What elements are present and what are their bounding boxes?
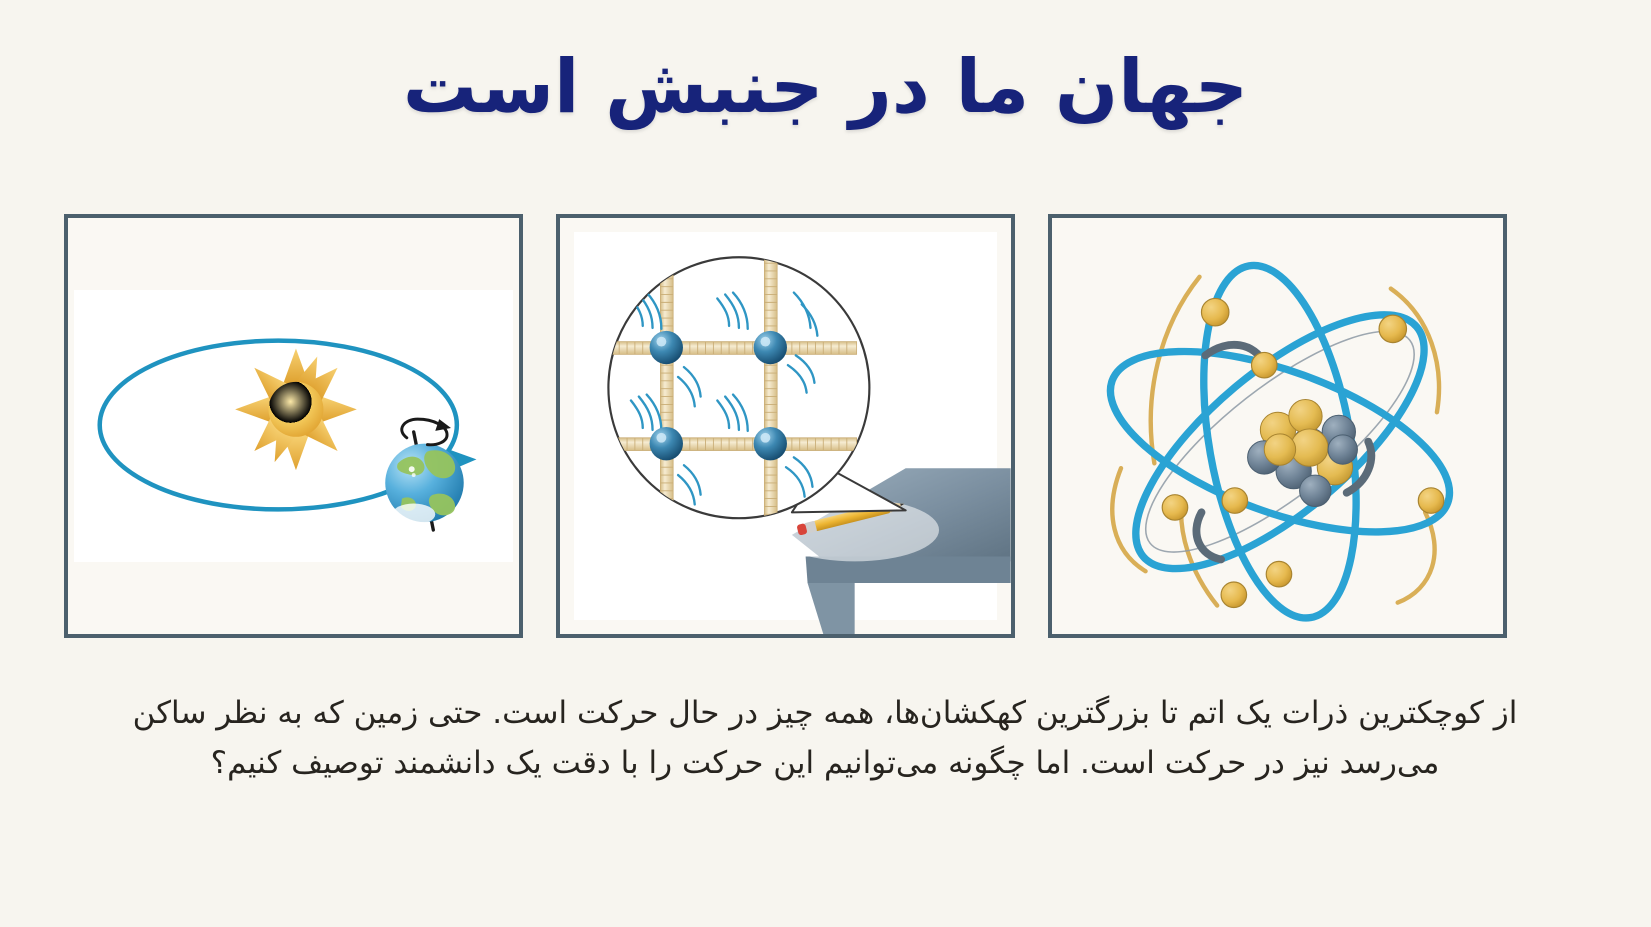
panel-earth-orbit: [64, 214, 523, 638]
atom-nucleus: [1248, 400, 1358, 507]
caption-block: از کوچکترین ذرات یک اتم تا بزرگترین کهکش…: [90, 688, 1560, 788]
crystal-lattice-illustration: [560, 218, 1011, 634]
panel-atom: [1048, 214, 1507, 638]
sun-icon: [213, 326, 380, 493]
earth-rotation-arrowhead-icon: [435, 419, 451, 431]
page-title: جهان ما در جنبش است: [0, 46, 1651, 129]
panel-lattice: [556, 214, 1015, 638]
caption-line-2: می‌رسد نیز در حرکت است. اما چگونه می‌توا…: [90, 738, 1560, 788]
earth-orbit-illustration: [68, 218, 519, 634]
caption-line-1: از کوچکترین ذرات یک اتم تا بزرگترین کهکش…: [90, 688, 1560, 738]
atom-illustration: [1052, 218, 1503, 634]
callout-bubble: [608, 257, 869, 518]
illustration-panels: [64, 214, 1507, 638]
earth-icon: [385, 419, 463, 530]
slide-root: جهان ما در جنبش است: [0, 0, 1651, 927]
